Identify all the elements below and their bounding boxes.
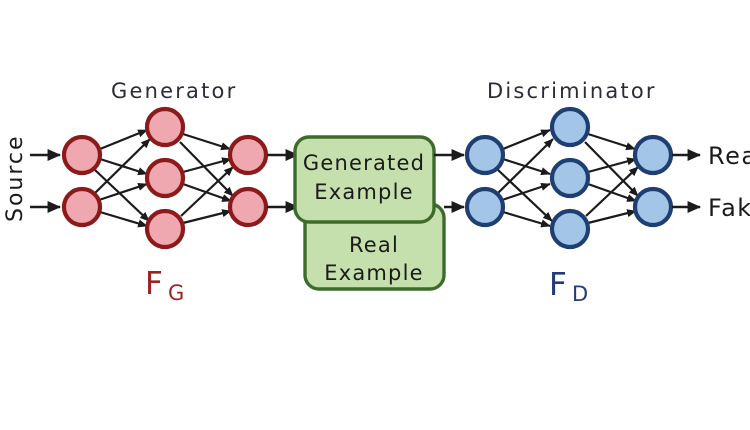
generator-hidden-node-1 [147, 109, 183, 145]
generator-output-node-1 [230, 137, 266, 173]
generator-function-label: F G [145, 266, 184, 305]
output-label-fake: Fake [708, 194, 750, 222]
source-label: Source [3, 134, 28, 222]
generator-title: Generator [111, 79, 237, 103]
source-input-arrows [30, 155, 60, 207]
discriminator-title: Discriminator [487, 79, 657, 103]
disc-edge-i2-h3 [503, 212, 550, 226]
discriminator-hidden-node-2 [552, 160, 588, 196]
gen-edge-h3-o1 [181, 167, 233, 216]
discriminator-function-subscript: D [572, 282, 588, 306]
discriminator-output-arrows [672, 155, 700, 207]
disc-edge-i1-h1 [503, 130, 550, 149]
discriminator-input-node-1 [467, 137, 503, 173]
disc-edge-h1-o2 [585, 142, 638, 196]
gen-edge-h1-o1 [183, 134, 230, 149]
disc-edge-h3-o2 [588, 211, 636, 223]
generated-example-box[interactable]: Generated Example [295, 137, 434, 222]
discriminator-hidden-node-1 [552, 109, 588, 145]
discriminator-output-node-2 [635, 189, 671, 225]
generator-function-base: F [145, 266, 164, 302]
diagram-canvas: Source Generator [0, 0, 750, 430]
gen-edge-i2-h3 [100, 212, 147, 226]
generator-hidden-node-3 [147, 211, 183, 247]
real-example-line-2: Example [324, 261, 424, 285]
disc-edge-h3-o1 [586, 167, 638, 216]
gan-architecture-diagram: Source Generator [0, 0, 750, 430]
generator-function-subscript: G [168, 281, 184, 305]
disc-edge-h1-o1 [588, 134, 635, 149]
discriminator-function-base: F [549, 267, 568, 303]
discriminator-input-node-2 [467, 189, 503, 225]
box-to-discriminator-arrows [434, 155, 464, 207]
gen-edge-h1-o2 [180, 142, 233, 196]
discriminator-hidden-node-3 [552, 211, 588, 247]
discriminator-output-node-1 [635, 137, 671, 173]
generator-hidden-node-2 [147, 160, 183, 196]
generated-example-line-2: Example [314, 180, 414, 204]
generator-nodes [64, 109, 266, 247]
real-example-line-1: Real [349, 233, 399, 257]
gen-edge-i1-h1 [100, 130, 147, 149]
gen-edge-h3-o2 [183, 211, 231, 223]
generator-input-node-1 [64, 137, 100, 173]
discriminator-function-label: F D [549, 267, 588, 306]
discriminator-nodes [467, 109, 671, 247]
output-label-real: Real [708, 142, 750, 170]
generated-example-line-1: Generated [303, 151, 425, 175]
generator-input-node-2 [64, 189, 100, 225]
generator-output-node-2 [230, 189, 266, 225]
